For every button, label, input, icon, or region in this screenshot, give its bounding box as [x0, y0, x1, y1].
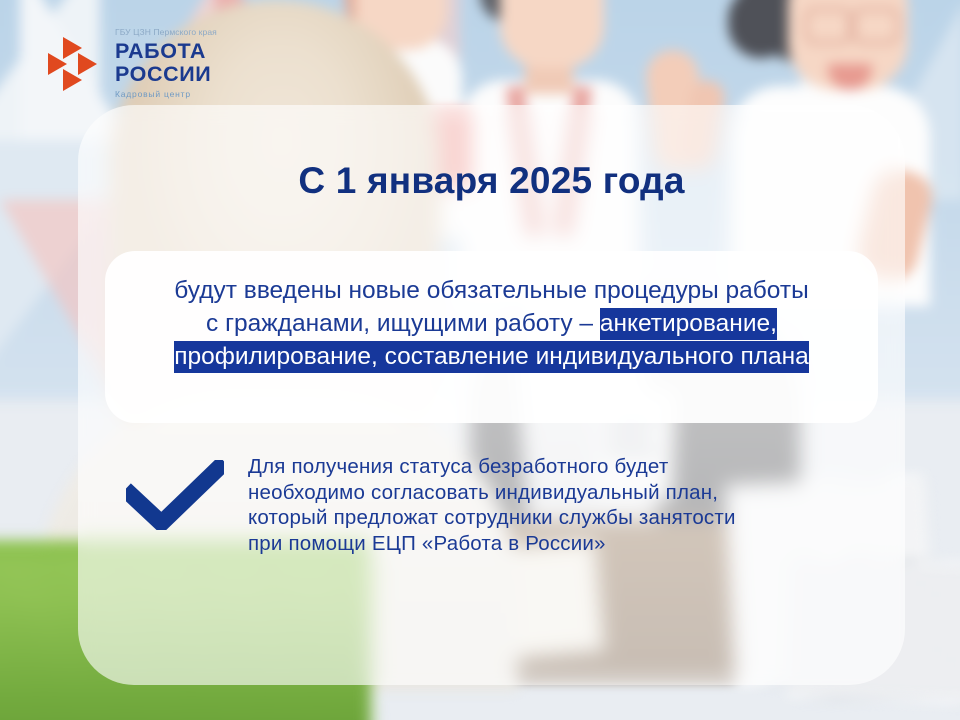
- logo-wordmark: ГБУ ЦЗН Пермского края РАБОТА РОССИИ Кад…: [115, 28, 217, 98]
- check-line-4: при помощи ЕЦП «Работа в России»: [248, 531, 736, 557]
- check-line-2: необходимо согласовать индивидуальный пл…: [248, 480, 736, 506]
- checkmark-callout: Для получения статуса безработного будет…: [126, 452, 866, 556]
- slide-body-text: будут введены новые обязательные процеду…: [105, 274, 878, 373]
- logo-line-1: РАБОТА: [115, 40, 217, 63]
- illustrated-glasses-right: [853, 8, 899, 44]
- check-line-3: который предложат сотрудники службы заня…: [248, 505, 736, 531]
- illustrated-glasses-left: [805, 8, 851, 44]
- logo-triangles-icon: [48, 35, 104, 91]
- checkmark-icon: [126, 460, 224, 535]
- checkmark-text: Для получения статуса безработного будет…: [248, 452, 736, 556]
- logo-line-2: РОССИИ: [115, 63, 217, 86]
- body-line-2-highlight: анкетирование,: [600, 308, 777, 340]
- slide-title: С 1 января 2025 года: [78, 160, 905, 202]
- body-line-1: будут введены новые обязательные процеду…: [174, 277, 808, 304]
- body-line-2-plain: с гражданами, ищущими работу –: [206, 310, 600, 337]
- illustrated-person-2-head: [500, 0, 604, 68]
- presentation-slide: ГБУ ЦЗН Пермского края РАБОТА РОССИИ Кад…: [0, 0, 960, 720]
- logo-subtitle-bottom: Кадровый центр: [115, 90, 217, 99]
- rabota-rossii-logo: ГБУ ЦЗН Пермского края РАБОТА РОССИИ Кад…: [48, 28, 217, 98]
- logo-subtitle-top: ГБУ ЦЗН Пермского края: [115, 28, 217, 37]
- check-line-1: Для получения статуса безработного будет: [248, 454, 736, 480]
- body-line-3-highlight: профилирование, составление индивидуальн…: [174, 341, 809, 373]
